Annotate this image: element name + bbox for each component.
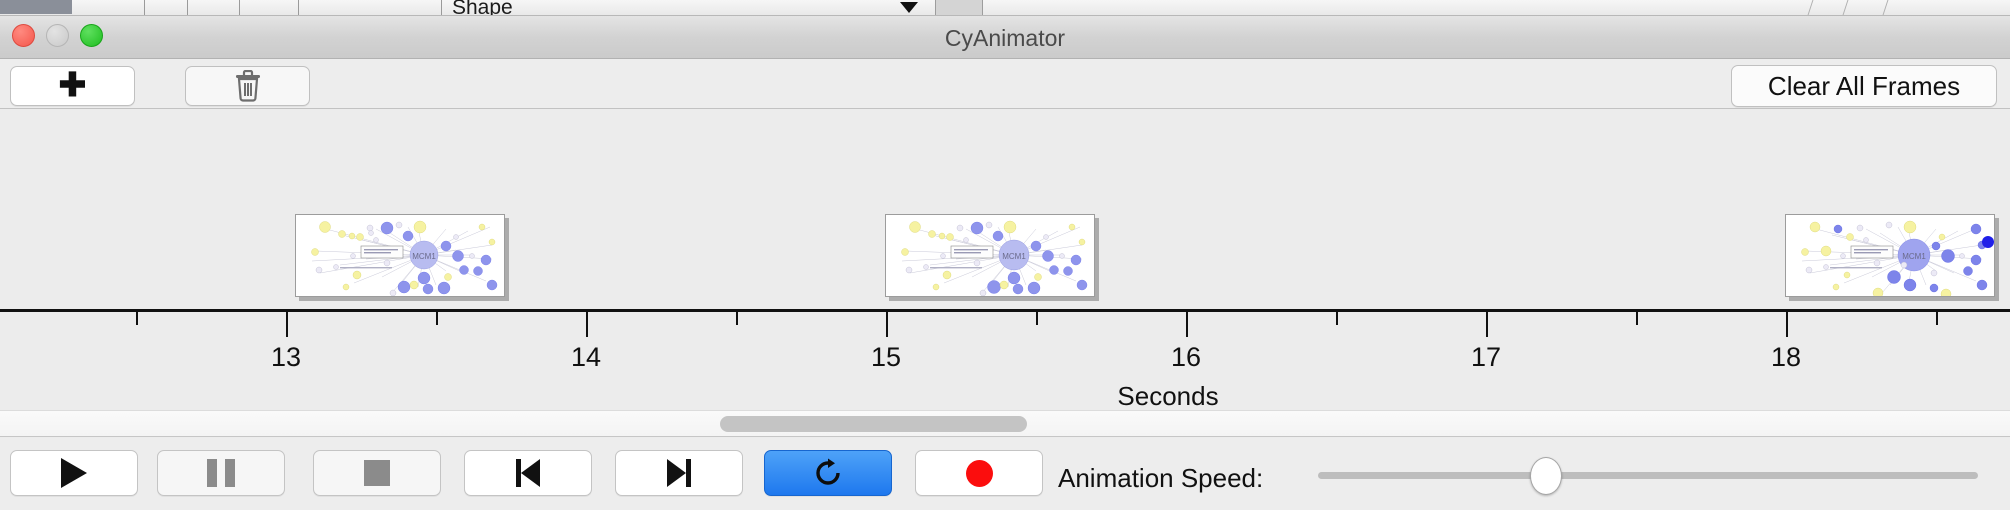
timeline-axis-line [0,309,2010,312]
background-window-caret-icon [900,2,918,13]
trash-icon [234,70,262,102]
timeline-content: MCM1 [0,110,2010,410]
record-button[interactable] [915,450,1043,496]
stop-icon [364,460,390,486]
next-frame-button[interactable] [615,450,743,496]
axis-tick-label: 12 [0,342,1,373]
background-window-divider [1883,0,1889,15]
timeline-scrollbar-thumb[interactable] [720,416,1027,432]
window-titlebar: CyAnimator [0,16,2010,59]
timeline-frame-thumbnail[interactable]: MCM1 [1785,214,1995,297]
axis-major-tick [1186,311,1188,337]
axis-minor-tick [1936,311,1938,325]
axis-tick-label: 17 [1471,342,1501,373]
axis-minor-tick [1036,311,1038,325]
background-window-strip: Shape [0,0,2010,16]
loop-button[interactable] [764,450,892,496]
svg-text:MCM1: MCM1 [412,252,436,261]
animation-speed-label: Animation Speed: [1058,463,1263,494]
stop-button[interactable] [313,450,441,496]
background-window-segment [148,0,188,15]
play-icon [61,458,87,488]
skip-next-icon [667,459,691,487]
background-window-dark-segment [0,0,72,14]
background-window-button [935,0,983,15]
axis-minor-tick [1636,311,1638,325]
window-title: CyAnimator [0,25,2010,52]
background-window-divider [1808,0,1814,15]
playback-control-bar: Animation Speed: [0,438,2010,510]
skip-previous-icon [516,459,540,487]
previous-frame-button[interactable] [464,450,592,496]
timeline-horizontal-scrollbar[interactable] [0,410,2010,437]
network-graph-thumbnail-3: MCM1 [1786,215,1995,297]
background-window-segment [244,0,299,15]
axis-tick-label: 18 [1771,342,1801,373]
delete-frame-button[interactable] [185,66,310,106]
svg-text:MCM1: MCM1 [1002,252,1026,261]
play-button[interactable] [10,450,138,496]
axis-title-seconds: Seconds [1117,381,1218,410]
axis-minor-tick [436,311,438,325]
axis-minor-tick [136,311,138,325]
add-frame-button[interactable]: ✚ [10,66,135,106]
axis-major-tick [586,311,588,337]
background-window-divider [1843,0,1849,15]
axis-tick-label: 13 [271,342,301,373]
background-window-segment [302,0,442,15]
axis-major-tick [286,311,288,337]
pause-button[interactable] [157,450,285,496]
axis-major-tick [1786,311,1788,337]
loop-icon [813,458,843,488]
network-graph-thumbnail-2: MCM1 [886,215,1095,297]
axis-tick-label: 15 [871,342,901,373]
timeline-frame-thumbnail[interactable]: MCM1 [885,214,1095,297]
clear-all-frames-label: Clear All Frames [1768,71,1960,102]
animation-speed-slider[interactable] [1318,438,1978,510]
axis-minor-tick [1336,311,1338,325]
background-window-segment [190,0,240,15]
background-window-segment [75,0,145,15]
record-icon [966,460,993,487]
axis-minor-tick [736,311,738,325]
animation-speed-slider-track[interactable] [1318,472,1978,479]
network-graph-thumbnail-1: MCM1 [296,215,505,297]
axis-major-tick [1486,311,1488,337]
background-window-menu-label: Shape [452,0,513,16]
axis-tick-label: 16 [1171,342,1201,373]
timeline-frame-thumbnail[interactable]: MCM1 [295,214,505,297]
svg-text:MCM1: MCM1 [1902,252,1926,261]
pause-icon [207,459,235,487]
frames-toolbar: ✚ Clear All Frames [0,59,2010,109]
axis-major-tick [886,311,888,337]
timeline-panel[interactable]: MCM1 [0,110,2010,410]
plus-icon: ✚ [59,68,87,101]
axis-tick-label: 14 [571,342,601,373]
animation-speed-slider-thumb[interactable] [1530,457,1562,495]
clear-all-frames-button[interactable]: Clear All Frames [1731,65,1997,107]
